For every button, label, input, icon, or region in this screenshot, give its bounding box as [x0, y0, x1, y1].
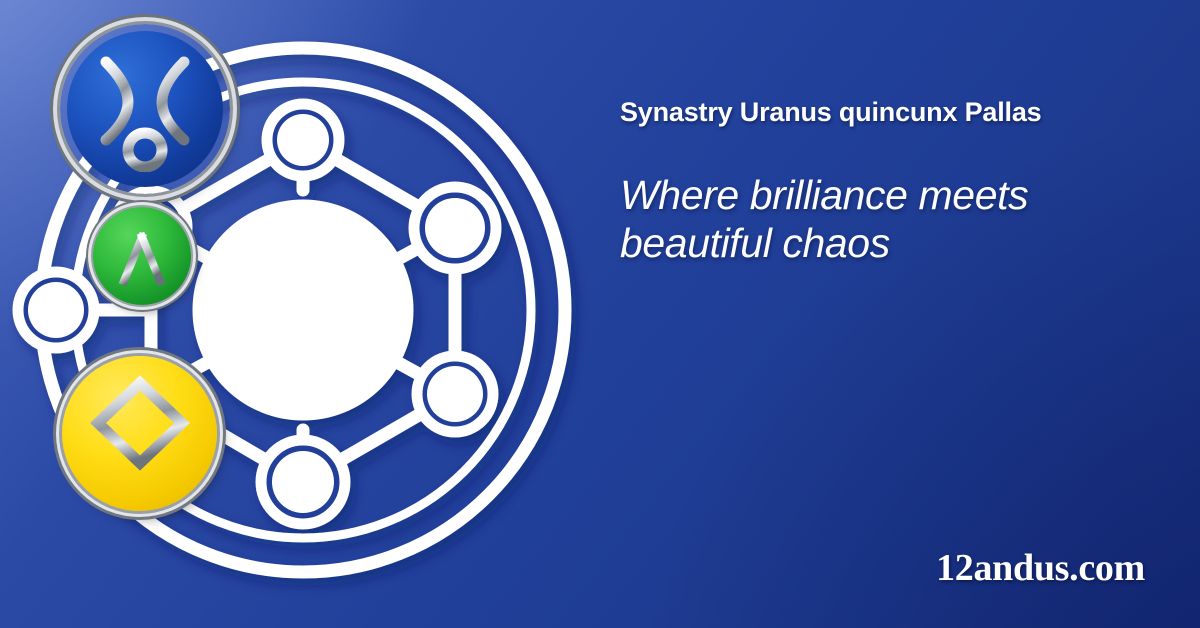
orbit-node-left: [18, 272, 94, 348]
central-hub-circle: [197, 204, 409, 416]
page-title: Synastry Uranus quincunx Pallas: [620, 96, 1168, 128]
social-card: Synastry Uranus quincunx Pallas Where br…: [0, 0, 1200, 628]
orbit-node-lower-right: [417, 356, 493, 432]
pallas-symbol-icon: [88, 375, 192, 493]
pallas-symbol-badge: [62, 356, 217, 511]
subtitle: Where brilliance meets beautiful chaos: [620, 172, 1168, 267]
uranus-symbol-badge: [60, 24, 230, 194]
orbit-node-top: [267, 104, 339, 176]
orbit-node-upper-right: [414, 187, 496, 269]
subtitle-line-2: beautiful chaos: [620, 220, 1168, 268]
quincunx-aspect-icon: [111, 225, 173, 287]
orbit-node-bottom: [261, 440, 345, 524]
brand-wordmark[interactable]: 12andus.com: [936, 546, 1145, 590]
text-block: Synastry Uranus quincunx Pallas Where br…: [620, 96, 1168, 267]
uranus-symbol-icon: [84, 46, 206, 172]
quincunx-aspect-badge: [93, 207, 191, 305]
subtitle-line-1: Where brilliance meets: [620, 172, 1168, 220]
